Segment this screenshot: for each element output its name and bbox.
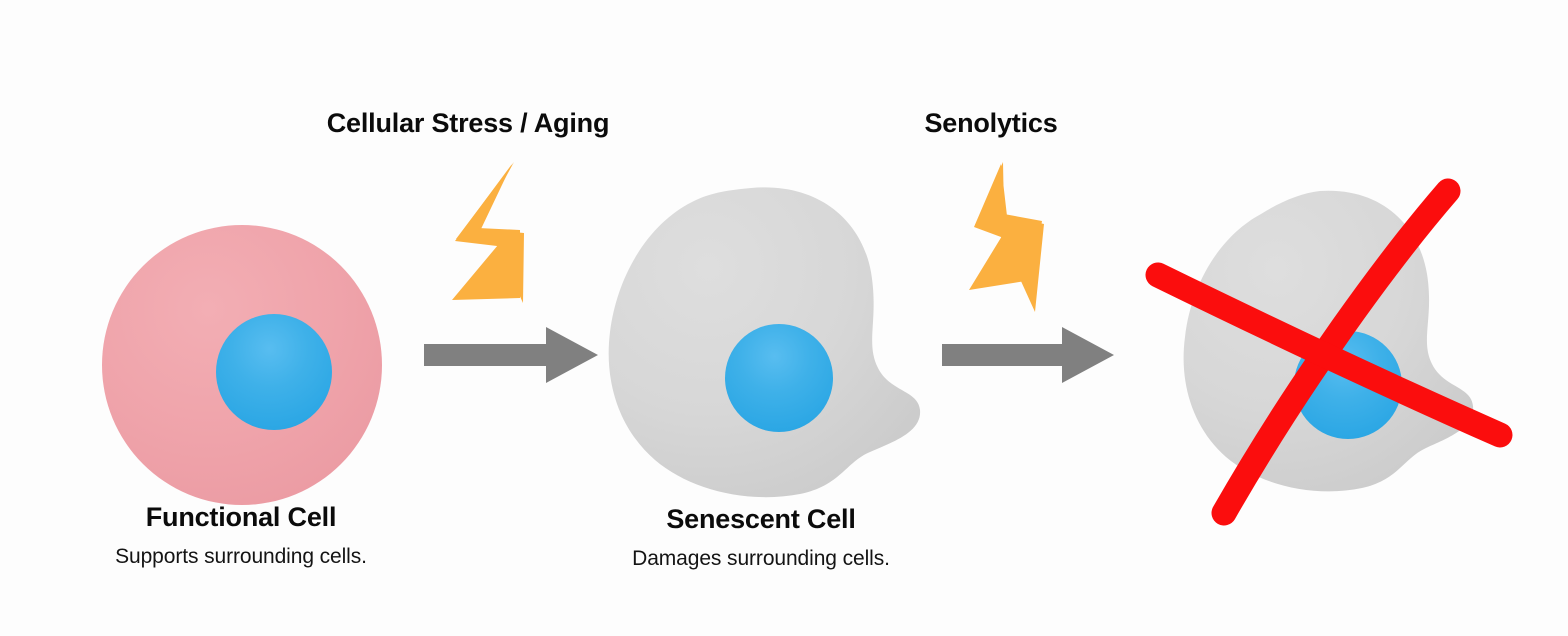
functional-cell-nucleus xyxy=(216,314,332,430)
senolytics-lightning-bolt-icon xyxy=(969,162,1044,312)
senescent-cell-graphic xyxy=(609,187,920,497)
diagram-canvas xyxy=(0,0,1568,636)
cleared-cell-graphic xyxy=(1158,191,1500,513)
transition-label-senolytics: Senolytics xyxy=(924,108,1057,139)
cell-title-senescent: Senescent Cell xyxy=(666,504,855,535)
senescence-diagram: Cellular Stress / Aging Senolytics Funct… xyxy=(0,0,1568,636)
cell-subtitle-functional: Supports surrounding cells. xyxy=(115,545,367,569)
functional-cell-graphic xyxy=(102,225,382,505)
senolytics-arrow-right-icon xyxy=(942,327,1114,383)
stress-arrow-right-icon xyxy=(424,327,598,383)
cell-title-functional: Functional Cell xyxy=(146,502,337,533)
senescent-cell-nucleus xyxy=(725,324,833,432)
stress-lightning-bolt-icon xyxy=(452,162,524,303)
cell-subtitle-senescent: Damages surrounding cells. xyxy=(632,547,890,571)
transition-label-stress: Cellular Stress / Aging xyxy=(327,108,609,139)
